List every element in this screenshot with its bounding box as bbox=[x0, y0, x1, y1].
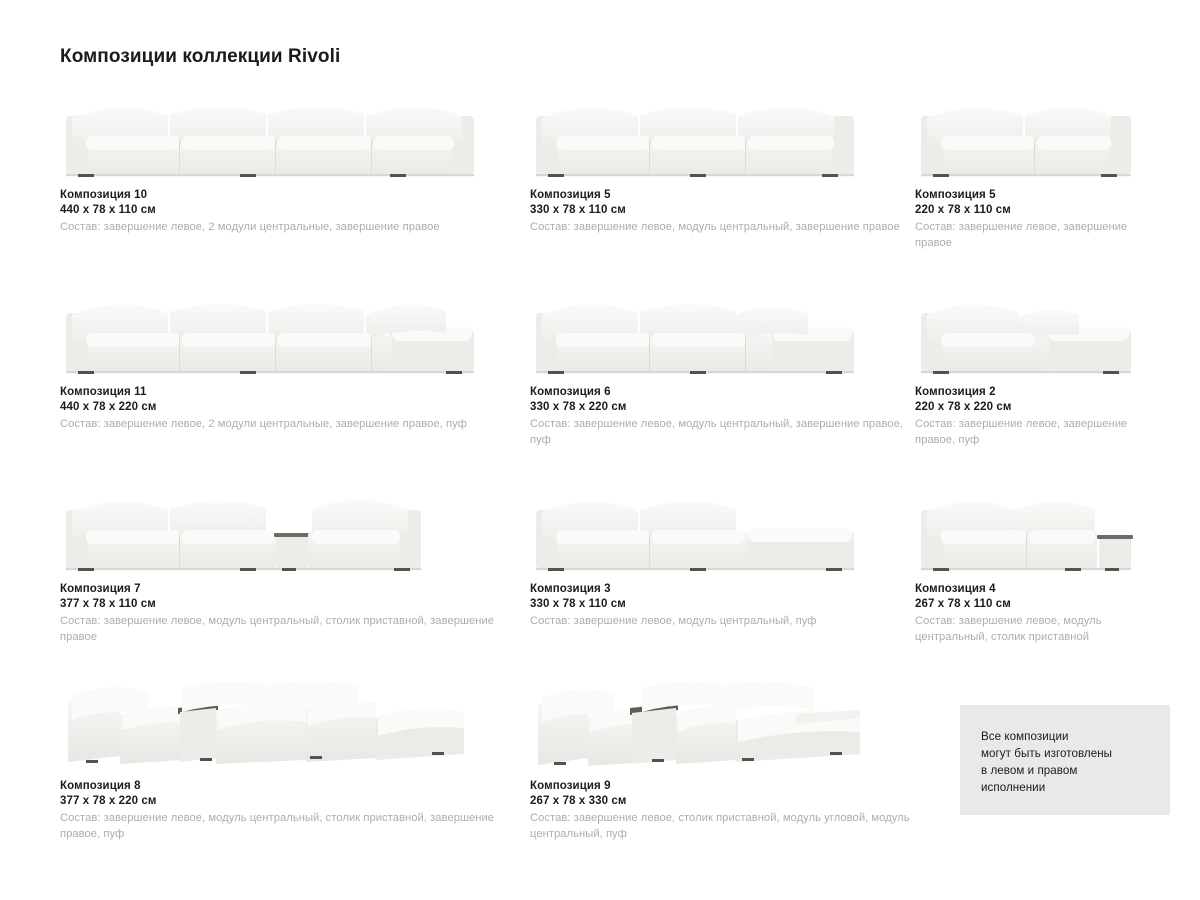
composition-description: Состав: завершение левое, модуль централ… bbox=[915, 614, 1140, 645]
sofa-illustration-composition-2 bbox=[915, 285, 1140, 377]
composition-caption: Композиция 3 330 x 78 x 110 см Состав: з… bbox=[530, 582, 915, 630]
sofa-illustration-composition-9 bbox=[530, 679, 915, 771]
composition-card-9[interactable]: Композиция 9 267 x 78 x 330 см Состав: з… bbox=[530, 679, 915, 842]
grid-cell: Композиция 3 330 x 78 x 110 см Состав: з… bbox=[530, 482, 915, 679]
composition-card-5-220[interactable]: Композиция 5 220 x 78 x 110 см Состав: з… bbox=[915, 88, 1140, 251]
grid-cell: Композиция 11 440 x 78 x 220 см Состав: … bbox=[60, 285, 530, 482]
composition-name: Композиция 2 bbox=[915, 385, 1140, 400]
grid-cell: Композиция 10 440 x 78 x 110 см Состав: … bbox=[60, 88, 530, 285]
sofa-illustration-composition-4 bbox=[915, 482, 1140, 574]
composition-name: Композиция 4 bbox=[915, 582, 1140, 597]
grid-cell: Композиция 5 330 x 78 x 110 см Состав: з… bbox=[530, 88, 915, 285]
composition-card-4[interactable]: Композиция 4 267 x 78 x 110 см Состав: з… bbox=[915, 482, 1140, 645]
composition-name: Композиция 9 bbox=[530, 779, 915, 794]
composition-caption: Композиция 8 377 x 78 x 220 см Состав: з… bbox=[60, 779, 530, 842]
composition-card-7[interactable]: Композиция 7 377 x 78 x 110 см Состав: з… bbox=[60, 482, 530, 645]
sofa-illustration-composition-5-220 bbox=[915, 88, 1140, 180]
composition-description: Состав: завершение левое, завершение пра… bbox=[915, 417, 1140, 448]
composition-description: Состав: завершение левое, 2 модули центр… bbox=[60, 220, 530, 236]
composition-description: Состав: завершение левое, столик пристав… bbox=[530, 811, 915, 842]
composition-name: Композиция 3 bbox=[530, 582, 915, 597]
grid-cell: Композиция 9 267 x 78 x 330 см Состав: з… bbox=[530, 679, 915, 876]
sofa-illustration-composition-11 bbox=[60, 285, 530, 377]
grid-cell: Композиция 7 377 x 78 x 110 см Состав: з… bbox=[60, 482, 530, 679]
composition-description: Состав: завершение левое, модуль централ… bbox=[530, 417, 915, 448]
production-note-text: Все композиции могут быть изготовлены в … bbox=[981, 728, 1170, 796]
composition-description: Состав: завершение левое, 2 модули центр… bbox=[60, 417, 530, 433]
composition-dimensions: 330 x 78 x 220 см bbox=[530, 400, 915, 415]
sofa-illustration-composition-6 bbox=[530, 285, 915, 377]
catalog-page: Композиции коллекции Rivoli bbox=[0, 0, 1200, 900]
composition-dimensions: 330 x 78 x 110 см bbox=[530, 597, 915, 612]
composition-card-5-330[interactable]: Композиция 5 330 x 78 x 110 см Состав: з… bbox=[530, 88, 915, 236]
sofa-illustration-composition-5-330 bbox=[530, 88, 915, 180]
page-title: Композиции коллекции Rivoli bbox=[60, 46, 340, 68]
composition-description: Состав: завершение левое, завершение пра… bbox=[915, 220, 1140, 251]
composition-dimensions: 220 x 78 x 110 см bbox=[915, 203, 1140, 218]
grid-cell: Композиция 5 220 x 78 x 110 см Состав: з… bbox=[915, 88, 1140, 285]
composition-name: Композиция 6 bbox=[530, 385, 915, 400]
composition-caption: Композиция 10 440 x 78 x 110 см Состав: … bbox=[60, 188, 530, 236]
composition-dimensions: 440 x 78 x 220 см bbox=[60, 400, 530, 415]
composition-dimensions: 267 x 78 x 110 см bbox=[915, 597, 1140, 612]
composition-name: Композиция 5 bbox=[530, 188, 915, 203]
composition-dimensions: 377 x 78 x 220 см bbox=[60, 794, 530, 809]
composition-description: Состав: завершение левое, модуль централ… bbox=[530, 614, 915, 630]
sofa-illustration-composition-7 bbox=[60, 482, 530, 574]
composition-dimensions: 377 x 78 x 110 см bbox=[60, 597, 530, 612]
sofa-illustration-composition-8 bbox=[60, 679, 530, 771]
composition-card-2[interactable]: Композиция 2 220 x 78 x 220 см Состав: з… bbox=[915, 285, 1140, 448]
sofa-illustration-composition-10 bbox=[60, 88, 530, 180]
composition-caption: Композиция 5 220 x 78 x 110 см Состав: з… bbox=[915, 188, 1140, 251]
composition-dimensions: 440 x 78 x 110 см bbox=[60, 203, 530, 218]
grid-cell: Композиция 4 267 x 78 x 110 см Состав: з… bbox=[915, 482, 1140, 679]
composition-card-3[interactable]: Композиция 3 330 x 78 x 110 см Состав: з… bbox=[530, 482, 915, 630]
composition-card-10[interactable]: Композиция 10 440 x 78 x 110 см Состав: … bbox=[60, 88, 530, 236]
composition-caption: Композиция 2 220 x 78 x 220 см Состав: з… bbox=[915, 385, 1140, 448]
composition-name: Композиция 10 bbox=[60, 188, 530, 203]
composition-card-6[interactable]: Композиция 6 330 x 78 x 220 см Состав: з… bbox=[530, 285, 915, 448]
composition-card-11[interactable]: Композиция 11 440 x 78 x 220 см Состав: … bbox=[60, 285, 530, 433]
composition-dimensions: 267 x 78 x 330 см bbox=[530, 794, 915, 809]
composition-name: Композиция 7 bbox=[60, 582, 530, 597]
sofa-illustration-composition-3 bbox=[530, 482, 915, 574]
composition-description: Состав: завершение левое, модуль централ… bbox=[60, 811, 530, 842]
composition-caption: Композиция 9 267 x 78 x 330 см Состав: з… bbox=[530, 779, 915, 842]
composition-caption: Композиция 7 377 x 78 x 110 см Состав: з… bbox=[60, 582, 530, 645]
composition-description: Состав: завершение левое, модуль централ… bbox=[60, 614, 530, 645]
composition-caption: Композиция 4 267 x 78 x 110 см Состав: з… bbox=[915, 582, 1140, 645]
composition-caption: Композиция 11 440 x 78 x 220 см Состав: … bbox=[60, 385, 530, 433]
composition-card-8[interactable]: Композиция 8 377 x 78 x 220 см Состав: з… bbox=[60, 679, 530, 842]
grid-cell: Композиция 8 377 x 78 x 220 см Состав: з… bbox=[60, 679, 530, 876]
composition-name: Композиция 5 bbox=[915, 188, 1140, 203]
composition-dimensions: 220 x 78 x 220 см bbox=[915, 400, 1140, 415]
composition-name: Композиция 11 bbox=[60, 385, 530, 400]
grid-cell: Композиция 2 220 x 78 x 220 см Состав: з… bbox=[915, 285, 1140, 482]
composition-caption: Композиция 5 330 x 78 x 110 см Состав: з… bbox=[530, 188, 915, 236]
composition-caption: Композиция 6 330 x 78 x 220 см Состав: з… bbox=[530, 385, 915, 448]
composition-name: Композиция 8 bbox=[60, 779, 530, 794]
composition-dimensions: 330 x 78 x 110 см bbox=[530, 203, 915, 218]
production-note: Все композиции могут быть изготовлены в … bbox=[960, 705, 1170, 815]
composition-description: Состав: завершение левое, модуль централ… bbox=[530, 220, 915, 236]
grid-cell: Композиция 6 330 x 78 x 220 см Состав: з… bbox=[530, 285, 915, 482]
